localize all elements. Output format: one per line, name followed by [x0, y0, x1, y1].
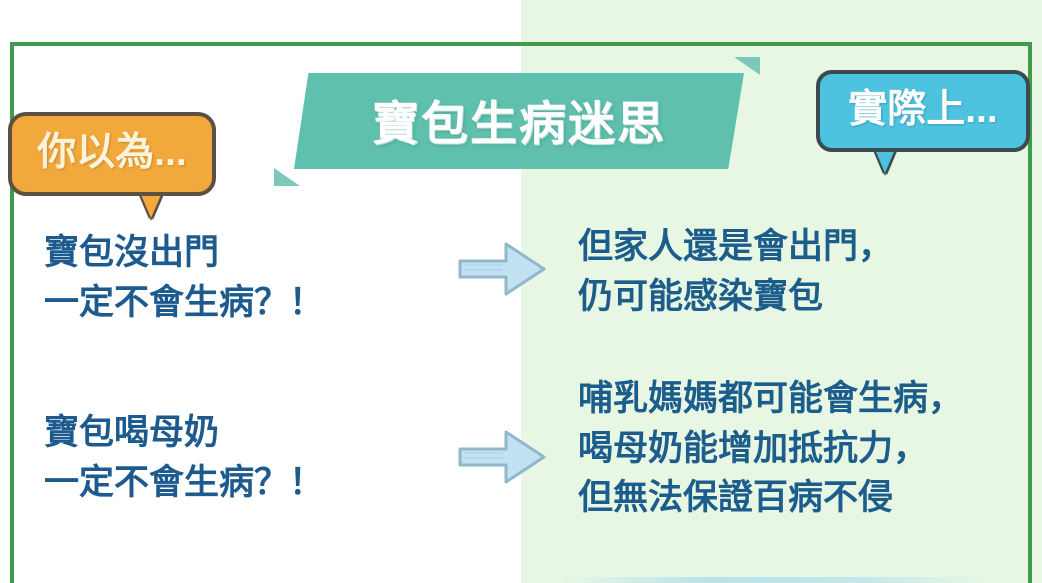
myth-text-1-line-2: 一定不會生病？！	[44, 278, 324, 328]
assume-bubble-label: 你以為...	[37, 133, 187, 172]
myth-text-1-line-1: 寶包沒出門	[44, 228, 324, 278]
fact-text-2-line-2: 喝母奶能增加抵抗力，	[578, 424, 963, 474]
arrow-right-icon-1	[458, 236, 546, 302]
infographic-root: 寶包生病迷思 你以為... 實際上... 寶包沒出門 一定不會生病？！ 但家人還…	[0, 0, 1042, 583]
actual-bubble-label: 實際上...	[848, 90, 998, 129]
actual-bubble: 實際上...	[816, 70, 1030, 152]
fact-text-2-line-1: 哺乳媽媽都可能會生病，	[578, 374, 963, 424]
banner-ribbon-tail-right	[734, 57, 760, 75]
fact-text-1: 但家人還是會出門， 仍可能感染寶包	[578, 222, 893, 321]
title-banner: 寶包生病迷思	[272, 57, 772, 192]
fact-text-1-line-2: 仍可能感染寶包	[578, 272, 893, 322]
myth-text-1: 寶包沒出門 一定不會生病？！	[44, 228, 324, 327]
page-title: 寶包生病迷思	[294, 85, 744, 154]
fact-text-2: 哺乳媽媽都可能會生病， 喝母奶能增加抵抗力， 但無法保證百病不侵	[578, 374, 963, 523]
banner-body: 寶包生病迷思	[294, 73, 744, 169]
fact-text-1-line-1: 但家人還是會出門，	[578, 222, 893, 272]
assume-bubble: 你以為...	[8, 112, 216, 196]
myth-text-2-line-1: 寶包喝母奶	[44, 408, 324, 458]
arrow-right-icon-2	[458, 424, 546, 490]
myth-text-2-line-2: 一定不會生病？！	[44, 458, 324, 508]
banner-ribbon-tail-left	[274, 168, 300, 186]
myth-text-2: 寶包喝母奶 一定不會生病？！	[44, 408, 324, 507]
bottom-accent-graphic	[560, 577, 990, 583]
fact-text-2-line-3: 但無法保證百病不侵	[578, 473, 963, 523]
